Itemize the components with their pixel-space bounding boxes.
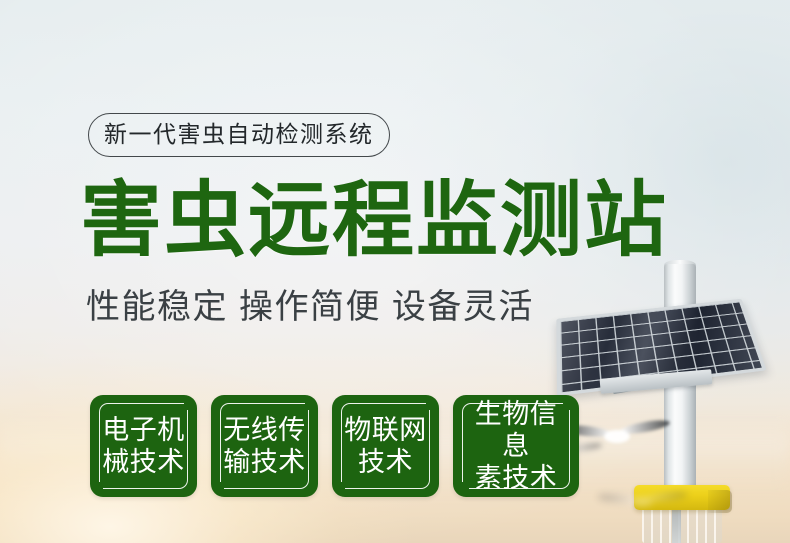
banner-copy: 新一代害虫自动检测系统 害虫远程监测站 性能稳定 操作简便 设备灵活 电子机 械… <box>0 0 790 543</box>
feature-tag-wireless-transmission[interactable]: 无线传 输技术 <box>211 395 318 497</box>
feature-tag-label: 无线传 输技术 <box>223 414 306 478</box>
feature-tag-electromechanical[interactable]: 电子机 械技术 <box>90 395 197 497</box>
subtitle: 性能稳定 操作简便 设备灵活 <box>86 285 534 329</box>
feature-tag-label: 物联网 技术 <box>344 414 427 478</box>
feature-tag-iot[interactable]: 物联网 技术 <box>332 395 439 497</box>
feature-tag-label: 电子机 械技术 <box>102 414 185 478</box>
page-title: 害虫远程监测站 <box>80 178 668 264</box>
tagline-badge: 新一代害虫自动检测系统 <box>88 113 390 157</box>
feature-tag-label: 生物信息 素技术 <box>463 398 569 494</box>
feature-tag-pheromone[interactable]: 生物信息 素技术 <box>453 395 579 497</box>
feature-tag-list: 电子机 械技术 无线传 输技术 物联网 技术 生物信息 素技术 <box>90 395 579 497</box>
product-banner: 新一代害虫自动检测系统 害虫远程监测站 性能稳定 操作简便 设备灵活 电子机 械… <box>0 0 790 543</box>
